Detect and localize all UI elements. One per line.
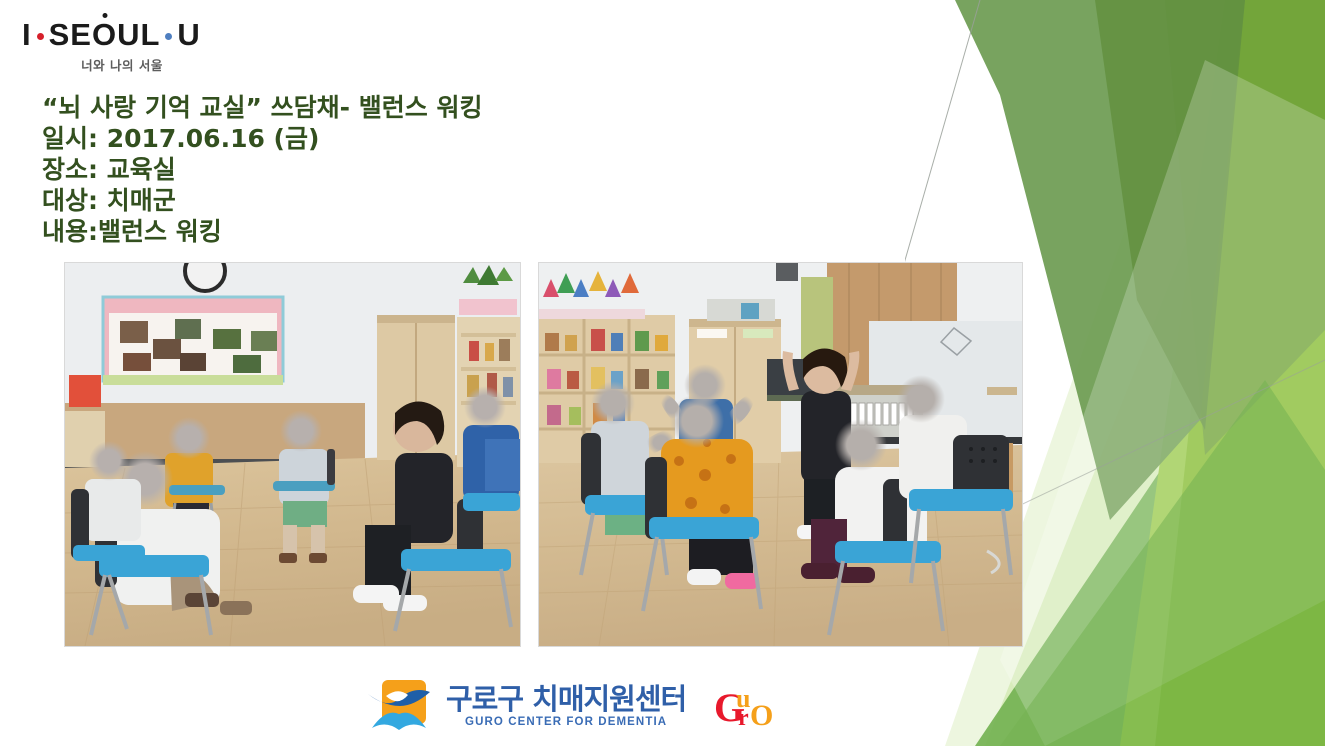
deco-shape-olive-dark — [1095, 0, 1245, 430]
i-seoul-u-wordmark: I SEOUL U — [22, 18, 252, 52]
guro-center-name-en: GURO CENTER FOR DEMENTIA — [446, 716, 686, 728]
guro-center-name-kr: 구로구 치매지원센터 — [446, 683, 686, 715]
deco-shape-mid-left — [975, 330, 1325, 746]
photo-left-image — [65, 263, 520, 646]
guro-badge-icon: G u r O — [714, 681, 776, 729]
deco-shape-olive-lower — [1165, 0, 1325, 455]
event-date: 일시: 2017.06.16 (금) — [42, 123, 482, 154]
slide-canvas: I SEOUL U 너와 나의 서울 “뇌 사랑 기억 교실” 쓰담채- 밸런스… — [0, 0, 1325, 746]
seoul-letter-u: U — [177, 18, 200, 52]
photo-left — [64, 262, 521, 647]
deco-shape-overlay-pale — [1000, 60, 1325, 746]
blue-dot-icon — [165, 33, 172, 40]
svg-text:r: r — [738, 705, 749, 729]
o-accent-dot-icon — [102, 13, 107, 18]
guro-center-symbol-icon — [368, 678, 430, 733]
event-place: 장소: 교육실 — [42, 154, 482, 185]
footer-logos: 구로구 치매지원센터 GURO CENTER FOR DEMENTIA G u … — [368, 676, 776, 734]
i-seoul-u-logo: I SEOUL U 너와 나의 서울 — [22, 18, 252, 78]
event-detail: 내용:밸런스 워킹 — [42, 216, 482, 247]
deco-shape-overlay-lower — [1000, 380, 1325, 746]
photo-right — [538, 262, 1023, 647]
page-title: “뇌 사랑 기억 교실” 쓰담채- 밸런스 워킹 — [42, 92, 482, 123]
content-text-block: “뇌 사랑 기억 교실” 쓰담채- 밸런스 워킹 일시: 2017.06.16 … — [42, 92, 482, 247]
brand-subtitle: 너와 나의 서울 — [22, 55, 222, 74]
event-target: 대상: 치매군 — [42, 185, 482, 216]
guro-center-name: 구로구 치매지원센터 GURO CENTER FOR DEMENTIA — [446, 683, 686, 728]
red-dot-icon — [37, 33, 44, 40]
deco-shape-lightest — [985, 120, 1325, 746]
seoul-word-text: SEOUL — [49, 17, 161, 52]
photo-right-image — [539, 263, 1022, 646]
deco-shape-bright — [1155, 0, 1325, 746]
deco-shape-light-right — [1120, 0, 1325, 746]
seoul-word-seoul: SEOUL — [49, 18, 161, 52]
seoul-letter-i: I — [22, 18, 32, 52]
svg-text:O: O — [750, 699, 773, 729]
